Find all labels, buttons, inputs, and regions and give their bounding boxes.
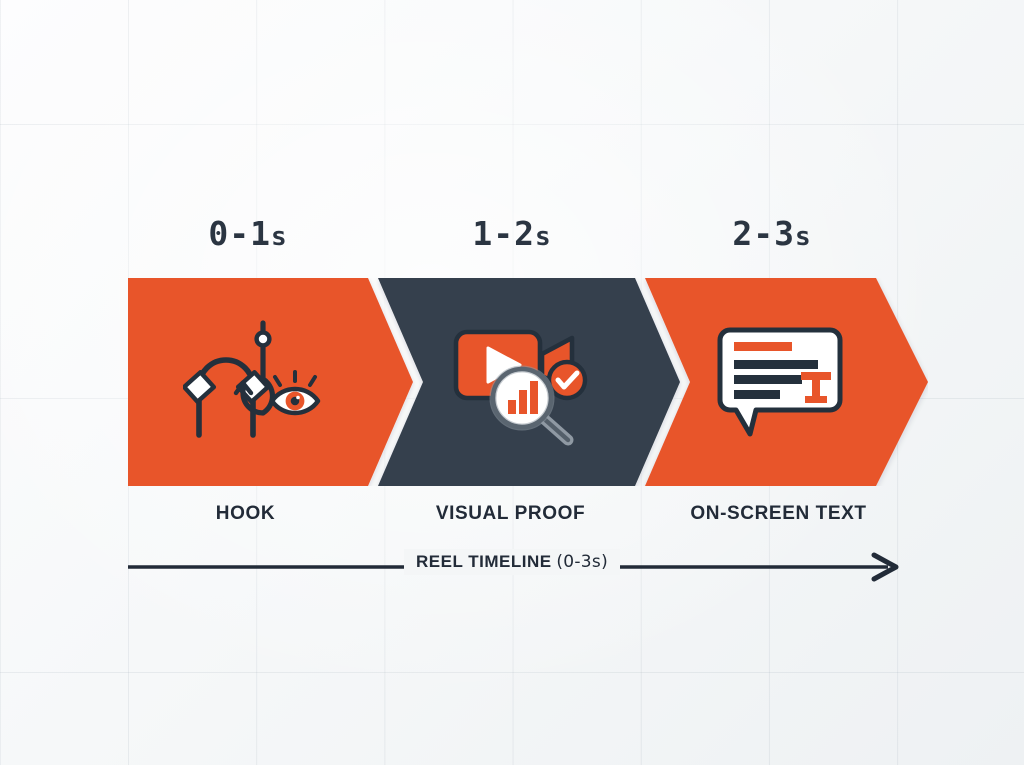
timeline-arrow [0, 548, 1024, 590]
time-label-row: 0-1s 1-2s 2-3s [0, 214, 1024, 270]
time-label-stage-1: 0-1s [148, 214, 348, 253]
time-label-unit-2: s [535, 222, 552, 252]
chevron-segment-1[interactable] [128, 278, 413, 486]
time-label-range-1: 0-1 [208, 214, 271, 253]
stage-label-on-screen-text: ON-SCREEN TEXT [676, 503, 881, 525]
chevron-band [128, 278, 928, 486]
infographic-canvas: 0-1s 1-2s 2-3s [0, 0, 1024, 765]
time-label-unit-3: s [795, 222, 812, 252]
stage-label-hook: HOOK [143, 503, 348, 525]
time-label-stage-3: 2-3s [672, 214, 872, 253]
stage-label-visual-proof: VISUAL PROOF [408, 503, 613, 525]
stage-label-row: HOOK VISUAL PROOF ON-SCREEN TEXT [0, 503, 1024, 537]
time-label-range-3: 2-3 [732, 214, 795, 253]
time-label-range-2: 1-2 [472, 214, 535, 253]
chevron-segment-2[interactable] [378, 278, 680, 486]
time-label-unit-1: s [271, 222, 288, 252]
chevron-segment-3[interactable] [645, 278, 928, 486]
time-label-stage-2: 1-2s [412, 214, 612, 253]
